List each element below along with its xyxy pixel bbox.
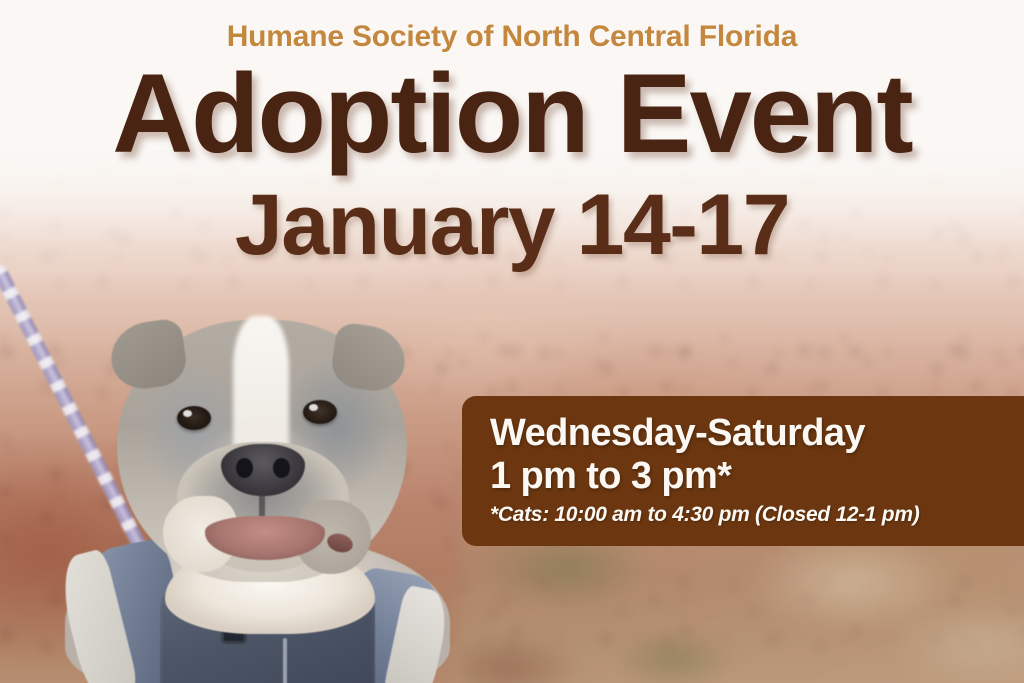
dog-nostril-right — [273, 458, 290, 478]
event-dates: January 14-17 — [0, 182, 1024, 270]
event-hours: 1 pm to 3 pm* — [490, 455, 1016, 498]
dog-nostril-left — [236, 458, 253, 478]
adoption-event-poster: Humane Society of North Central Florida … — [0, 0, 1024, 683]
harness-seam — [283, 638, 287, 683]
dog-eye-right — [303, 400, 337, 424]
dog-photo — [55, 320, 455, 683]
event-days: Wednesday-Saturday — [490, 412, 1016, 455]
event-hours-box: Wednesday-Saturday 1 pm to 3 pm* *Cats: … — [462, 396, 1024, 546]
dog-eye-left — [177, 406, 211, 430]
page-title: Adoption Event — [0, 57, 1024, 171]
organization-name: Humane Society of North Central Florida — [0, 20, 1024, 54]
dog-eye-glint-right — [309, 404, 318, 411]
dog-eye-glint-left — [183, 410, 192, 417]
cats-hours-footnote: *Cats: 10:00 am to 4:30 pm (Closed 12-1 … — [490, 503, 1016, 527]
